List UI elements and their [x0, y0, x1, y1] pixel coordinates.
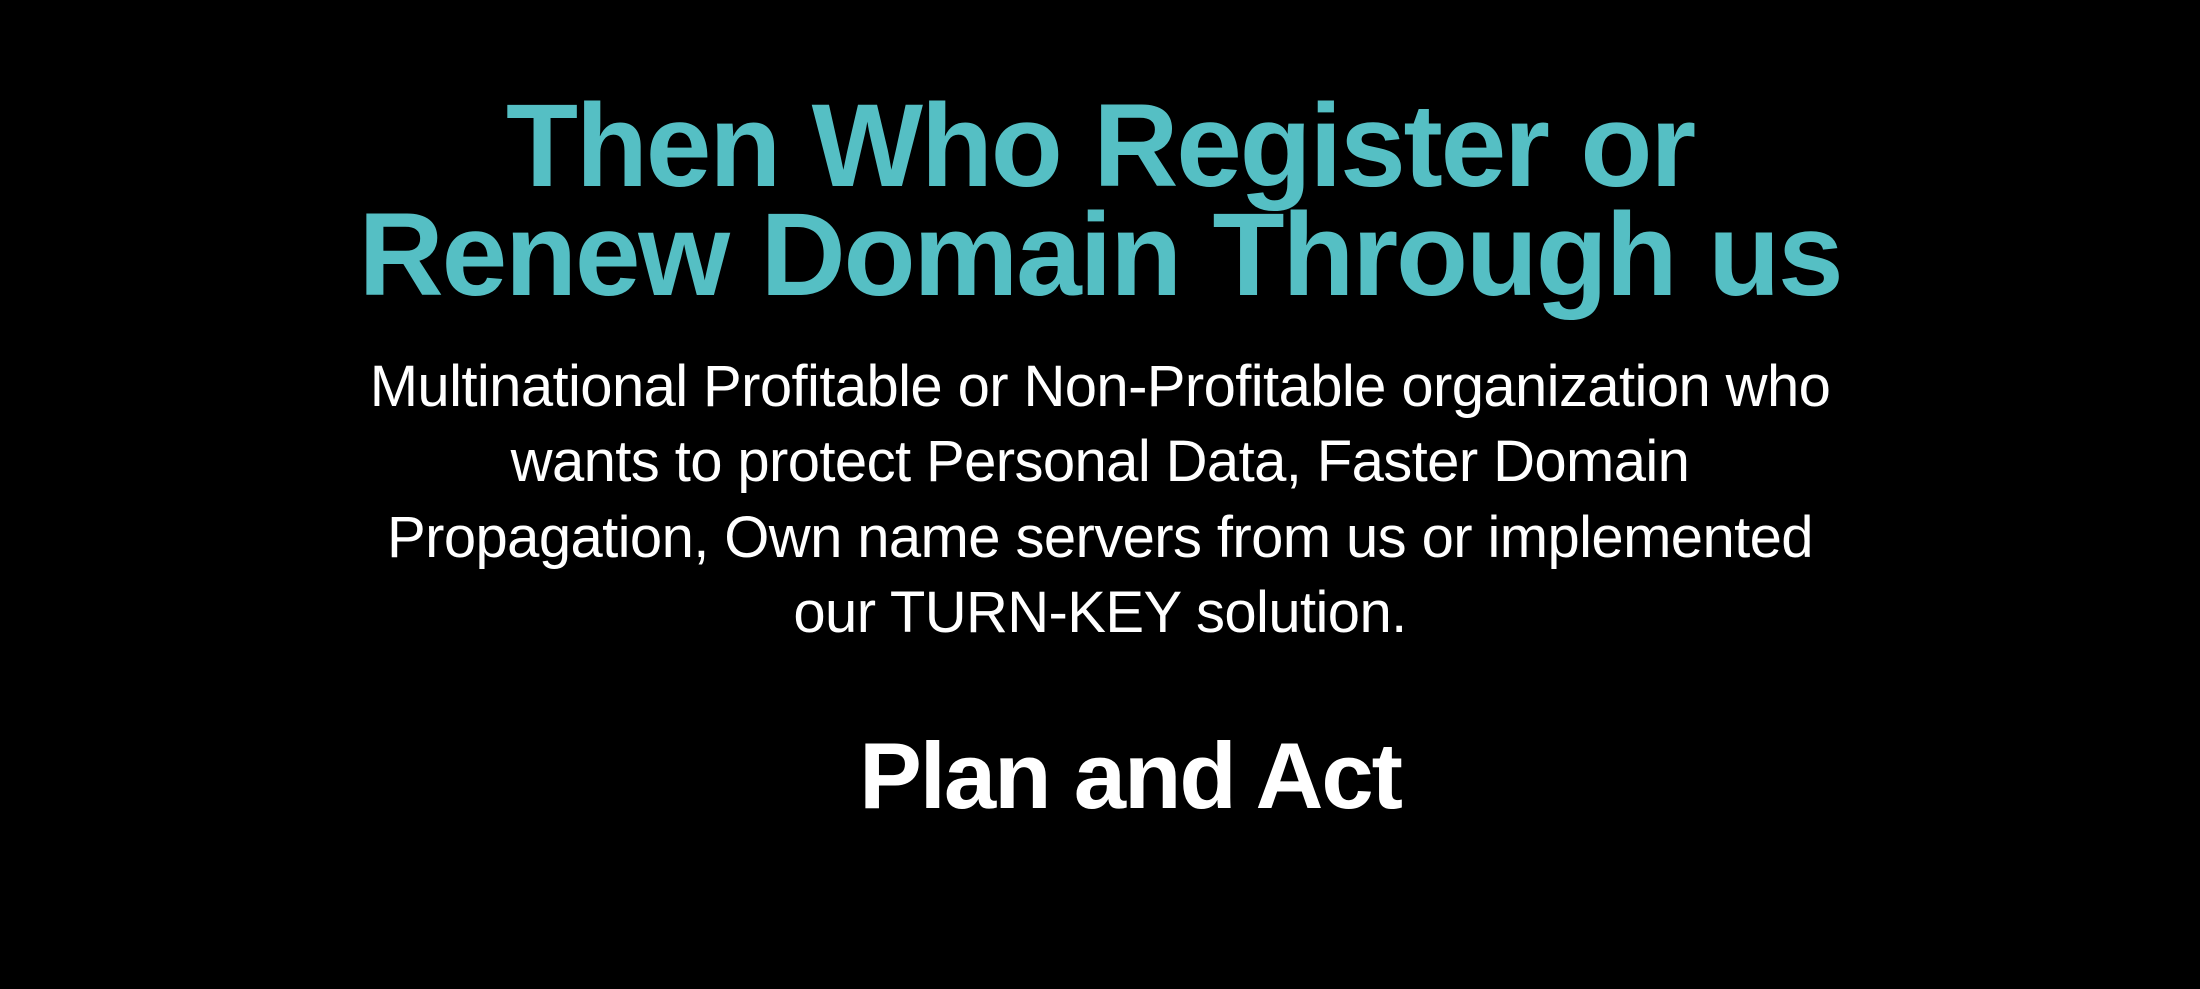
body-paragraph: Multinational Profitable or Non-Profitab… [320, 349, 1880, 651]
promo-slide: Then Who Register or Renew Domain Throug… [0, 0, 2200, 989]
subheadline-container: Plan and Act [320, 727, 1880, 826]
content-block: Then Who Register or Renew Domain Throug… [320, 0, 1880, 825]
subheadline: Plan and Act [859, 727, 1401, 826]
page-title: Then Who Register or Renew Domain Throug… [320, 92, 1880, 309]
